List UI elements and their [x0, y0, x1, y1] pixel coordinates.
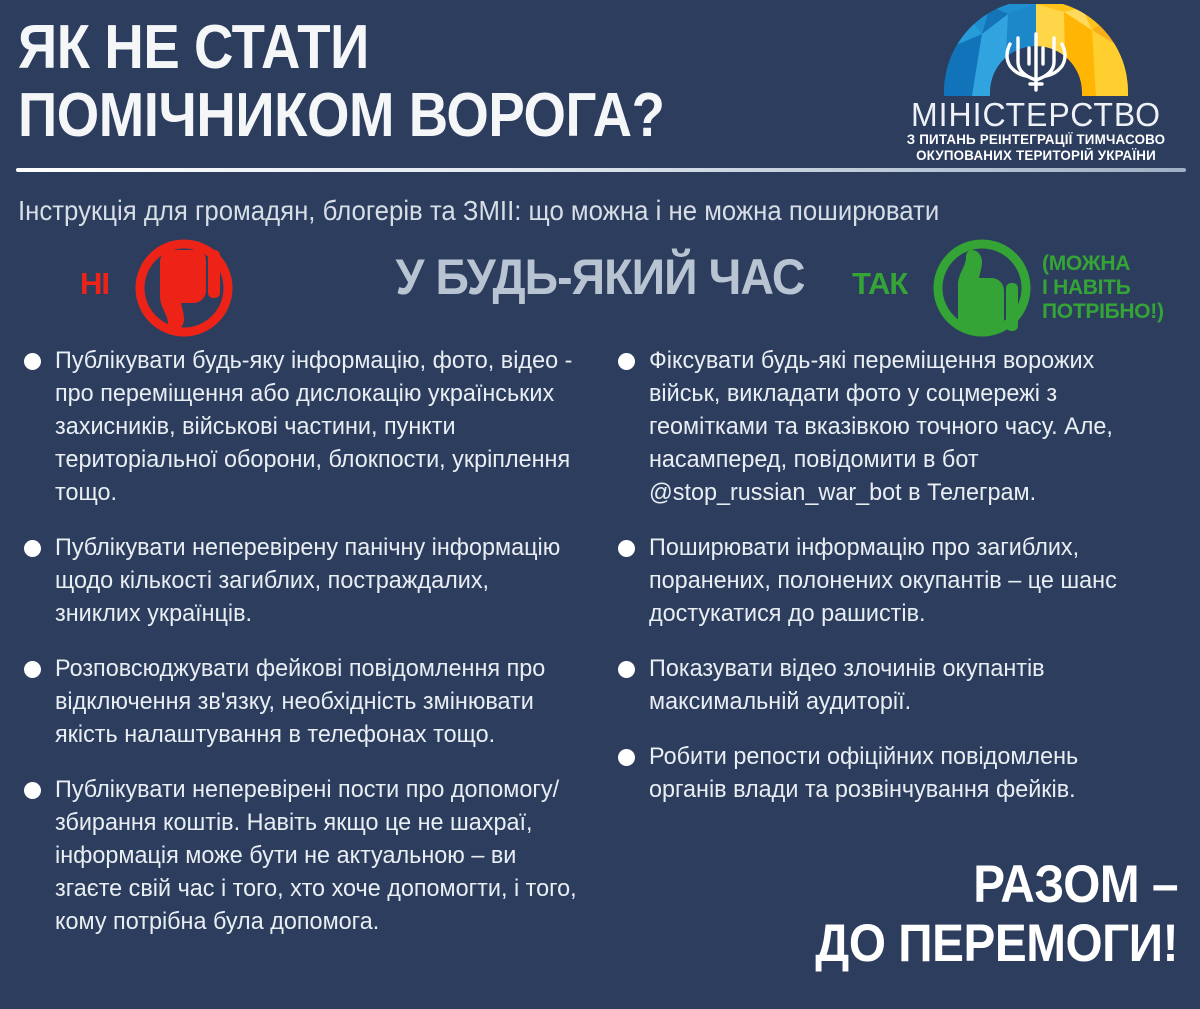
- bullet-icon: [24, 661, 41, 678]
- thumbs-up-group: ТАК: [930, 238, 1034, 338]
- header-divider: [16, 168, 1186, 172]
- bullet-icon: [618, 540, 635, 557]
- thumbs-down-icon: [132, 238, 236, 338]
- list-item: Фіксувати будь-які переміщення ворожих в…: [612, 344, 1186, 509]
- yes-note-line-3: ПОТРІБНО!): [1042, 300, 1164, 324]
- list-item-text: Публікувати неперевірену панічну інформа…: [55, 531, 577, 630]
- bullet-icon: [24, 540, 41, 557]
- banner-row: У БУДЬ-ЯКИЙ ЧАС НІ ТАК (: [0, 238, 1200, 338]
- list-item: Публікувати неперевірену панічну інформа…: [18, 531, 602, 630]
- ministry-sub-line-2: ОКУПОВАНИХ ТЕРИТОРІЙ УКРАЇНИ: [888, 148, 1185, 164]
- list-item: Публікувати неперевірені пости про допом…: [18, 773, 602, 938]
- yes-note: (МОЖНА І НАВІТЬ ПОТРІБНО!): [1042, 252, 1164, 324]
- thumbs-down-group: НІ: [132, 238, 236, 338]
- yes-note-line-1: (МОЖНА: [1042, 252, 1164, 276]
- list-item-text: Публікувати будь-яку інформацію, фото, в…: [55, 344, 577, 509]
- bullet-icon: [24, 782, 41, 799]
- list-item-text: Публікувати неперевірені пости про допом…: [55, 773, 577, 938]
- list-item: Розповсюджувати фейкові повідомлення про…: [18, 652, 602, 751]
- poster-subtitle: Інструкція для громадян, блогерів та ЗМІ…: [18, 194, 1105, 228]
- list-item: Показувати відео злочинів окупантів макс…: [612, 652, 1186, 718]
- page-title: ЯК НЕ СТАТИ ПОМІЧНИКОМ ВОРОГА?: [18, 14, 898, 150]
- victory-slogan: РАЗОМ – ДО ПЕРЕМОГИ!: [815, 855, 1178, 973]
- slogan-line-1: РАЗОМ –: [815, 855, 1178, 914]
- ministry-logo: МІНІСТЕРСТВО З ПИТАНЬ РЕІНТЕГРАЦІЇ ТИМЧА…: [886, 4, 1186, 164]
- prohibited-list: Публікувати будь-яку інформацію, фото, в…: [18, 344, 602, 960]
- title-line-1: ЯК НЕ СТАТИ: [18, 14, 792, 82]
- ministry-name: МІНІСТЕРСТВО: [891, 98, 1182, 132]
- thumbs-up-icon: [930, 238, 1034, 338]
- list-item-text: Фіксувати будь-які переміщення ворожих в…: [649, 344, 1162, 509]
- bullet-icon: [618, 661, 635, 678]
- list-item-text: Показувати відео злочинів окупантів макс…: [649, 652, 1162, 718]
- arch-emblem-icon: [886, 4, 1186, 96]
- yes-note-line-2: І НАВІТЬ: [1042, 276, 1164, 300]
- poster-header: ЯК НЕ СТАТИ ПОМІЧНИКОМ ВОРОГА?: [0, 0, 1200, 178]
- list-item: Публікувати будь-яку інформацію, фото, в…: [18, 344, 602, 509]
- list-item: Робити репости офіційних повідомлень орг…: [612, 740, 1186, 806]
- bullet-icon: [24, 353, 41, 370]
- infographic-poster: ЯК НЕ СТАТИ ПОМІЧНИКОМ ВОРОГА?: [0, 0, 1200, 1009]
- ministry-sub-line-1: З ПИТАНЬ РЕІНТЕГРАЦІЇ ТИМЧАСОВО: [888, 132, 1185, 148]
- list-item-text: Робити репости офіційних повідомлень орг…: [649, 740, 1162, 806]
- slogan-line-2: ДО ПЕРЕМОГИ!: [815, 914, 1178, 973]
- no-badge-label: НІ: [80, 266, 109, 302]
- yes-badge-label: ТАК: [852, 266, 907, 302]
- list-item-text: Поширювати інформацію про загиблих, пора…: [649, 531, 1162, 630]
- title-line-2: ПОМІЧНИКОМ ВОРОГА?: [18, 82, 792, 150]
- list-item: Поширювати інформацію про загиблих, пора…: [612, 531, 1186, 630]
- bullet-icon: [618, 749, 635, 766]
- list-item-text: Розповсюджувати фейкові повідомлення про…: [55, 652, 577, 751]
- bullet-icon: [618, 353, 635, 370]
